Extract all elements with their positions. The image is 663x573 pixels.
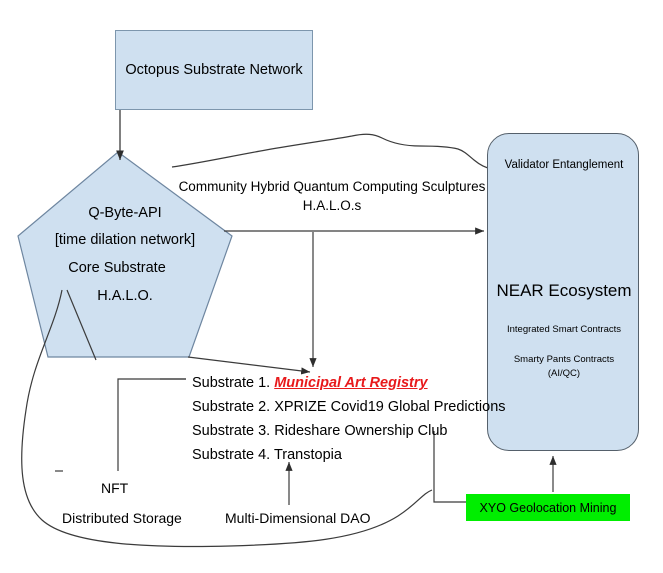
substrate-index-label: Substrate 3. <box>192 423 274 439</box>
near-smarty-pants-contracts-label: Smarty Pants Contracts <box>488 354 640 365</box>
substrate-name-label: Municipal Art Registry <box>274 375 427 391</box>
substrate-row[interactable]: Substrate 3. Rideshare Ownership Club <box>192 419 506 443</box>
substrate-list: Substrate 1. Municipal Art RegistrySubst… <box>192 371 506 467</box>
community-caption-line2: H.A.L.O.s <box>176 196 488 215</box>
multi-dimensional-dao-label: Multi-Dimensional DAO <box>225 510 370 526</box>
xyo-label: XYO Geolocation Mining <box>480 501 617 515</box>
near-ecosystem-title: NEAR Ecosystem <box>488 281 640 301</box>
diagram-canvas: Octopus Substrate Network Q-Byte-API [ti… <box>0 0 663 573</box>
substrate-index-label: Substrate 4. <box>192 447 274 463</box>
nft-label: NFT <box>101 480 128 496</box>
near-ecosystem-node[interactable]: Validator Entanglement NEAR Ecosystem In… <box>487 133 639 451</box>
substrate-name-label: Transtopia <box>274 447 342 463</box>
octopus-label: Octopus Substrate Network <box>125 62 302 78</box>
substrate-row[interactable]: Substrate 1. Municipal Art Registry <box>192 371 506 395</box>
wire-nft-bracket <box>118 379 186 471</box>
substrate-name-label: Rideshare Ownership Club <box>274 423 447 439</box>
xyo-geolocation-mining-node[interactable]: XYO Geolocation Mining <box>466 494 630 521</box>
octopus-substrate-network-node[interactable]: Octopus Substrate Network <box>115 30 313 110</box>
community-sculptures-caption: Community Hybrid Quantum Computing Sculp… <box>176 177 488 215</box>
substrate-name-label: XPRIZE Covid19 Global Predictions <box>274 399 505 415</box>
near-integrated-smart-contracts-label: Integrated Smart Contracts <box>488 324 640 335</box>
community-caption-line1: Community Hybrid Quantum Computing Sculp… <box>176 177 488 196</box>
substrate-index-label: Substrate 2. <box>192 399 274 415</box>
substrate-row[interactable]: Substrate 2. XPRIZE Covid19 Global Predi… <box>192 395 506 419</box>
near-aiqc-label: (AI/QC) <box>488 368 640 379</box>
pentagon-line-time-dilation: [time dilation network] <box>16 232 234 248</box>
substrate-index-label: Substrate 1. <box>192 375 274 391</box>
near-validator-entanglement-label: Validator Entanglement <box>488 159 640 171</box>
pentagon-line-halo: H.A.L.O. <box>16 288 234 304</box>
pentagon-line-core-substrate: Core Substrate <box>8 260 226 276</box>
substrate-row[interactable]: Substrate 4. Transtopia <box>192 443 506 467</box>
distributed-storage-label: Distributed Storage <box>62 510 182 526</box>
